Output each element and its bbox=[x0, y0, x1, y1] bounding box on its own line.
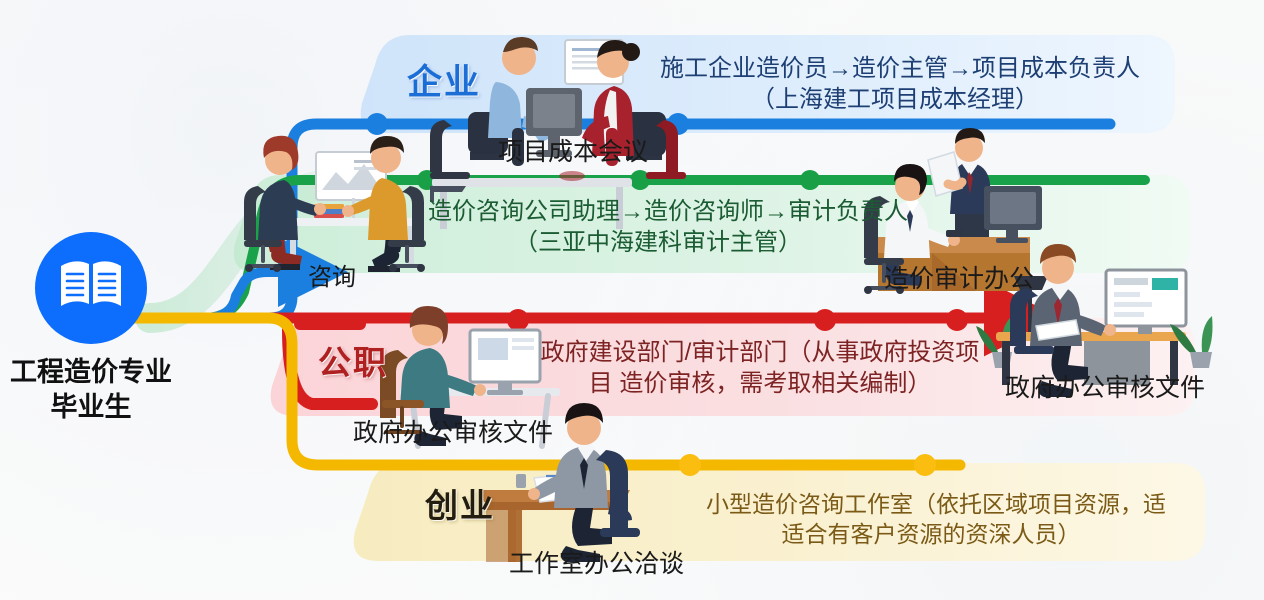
description-line-2: 目 造价审核，需考取相关编制） bbox=[540, 368, 980, 399]
caption-public-service: 政府办公审核文件 bbox=[353, 418, 553, 449]
description-line-1: 施工企业造价员→造价主管→项目成本负责人 bbox=[660, 53, 1130, 84]
node-dot bbox=[814, 309, 836, 331]
description-line-1: 小型造价咨询工作室（依托区域项目资源，适 bbox=[706, 490, 1156, 520]
category-label-enterprise: 企业 bbox=[407, 62, 481, 105]
category-label-startup: 创业 bbox=[425, 486, 495, 526]
node-dot bbox=[914, 454, 936, 476]
caption-government-review: 政府办公审核文件 bbox=[1005, 373, 1205, 404]
infographic-canvas: 工程造价专业 毕业生 企业 施工企业造价员→造价主管→项目成本负责人 （上海建工… bbox=[0, 0, 1264, 600]
node-dot bbox=[946, 309, 968, 331]
description-line-2: （三亚中海建科审计主管） bbox=[428, 227, 888, 258]
caption-audit-office: 造价审计办公 bbox=[884, 264, 1034, 295]
node-dot bbox=[679, 454, 701, 476]
description-line-1: 造价咨询公司助理→造价咨询师→审计负责人 bbox=[428, 196, 888, 227]
hub-label-line1: 工程造价专业 bbox=[0, 355, 206, 390]
description-line-2: （上海建工项目成本经理） bbox=[660, 84, 1130, 115]
description-startup: 小型造价咨询工作室（依托区域项目资源，适 适合有客户资源的资深人员） bbox=[706, 490, 1156, 550]
description-public-service: 政府建设部门/审计部门（从事政府投资项 目 造价审核，需考取相关编制） bbox=[540, 337, 980, 399]
description-enterprise: 施工企业造价员→造价主管→项目成本负责人 （上海建工项目成本经理） bbox=[660, 53, 1130, 115]
node-dot bbox=[366, 113, 388, 135]
hub-label: 工程造价专业 毕业生 bbox=[0, 355, 206, 424]
caption-startup: 工作室办公洽谈 bbox=[509, 549, 684, 580]
branch-label-consulting: 咨询 bbox=[308, 263, 356, 292]
hub-label-line2: 毕业生 bbox=[0, 390, 206, 425]
node-dot bbox=[800, 170, 820, 190]
caption-enterprise: 项目成本会议 bbox=[498, 137, 648, 168]
category-label-public-service: 公职 bbox=[318, 343, 388, 383]
description-line-2: 适合有客户资源的资深人员） bbox=[706, 520, 1156, 550]
node-dot bbox=[507, 309, 529, 331]
hub-node[interactable] bbox=[35, 232, 147, 344]
description-line-1: 政府建设部门/审计部门（从事政府投资项 bbox=[540, 337, 980, 368]
description-consulting: 造价咨询公司助理→造价咨询师→审计负责人 （三亚中海建科审计主管） bbox=[428, 196, 888, 258]
